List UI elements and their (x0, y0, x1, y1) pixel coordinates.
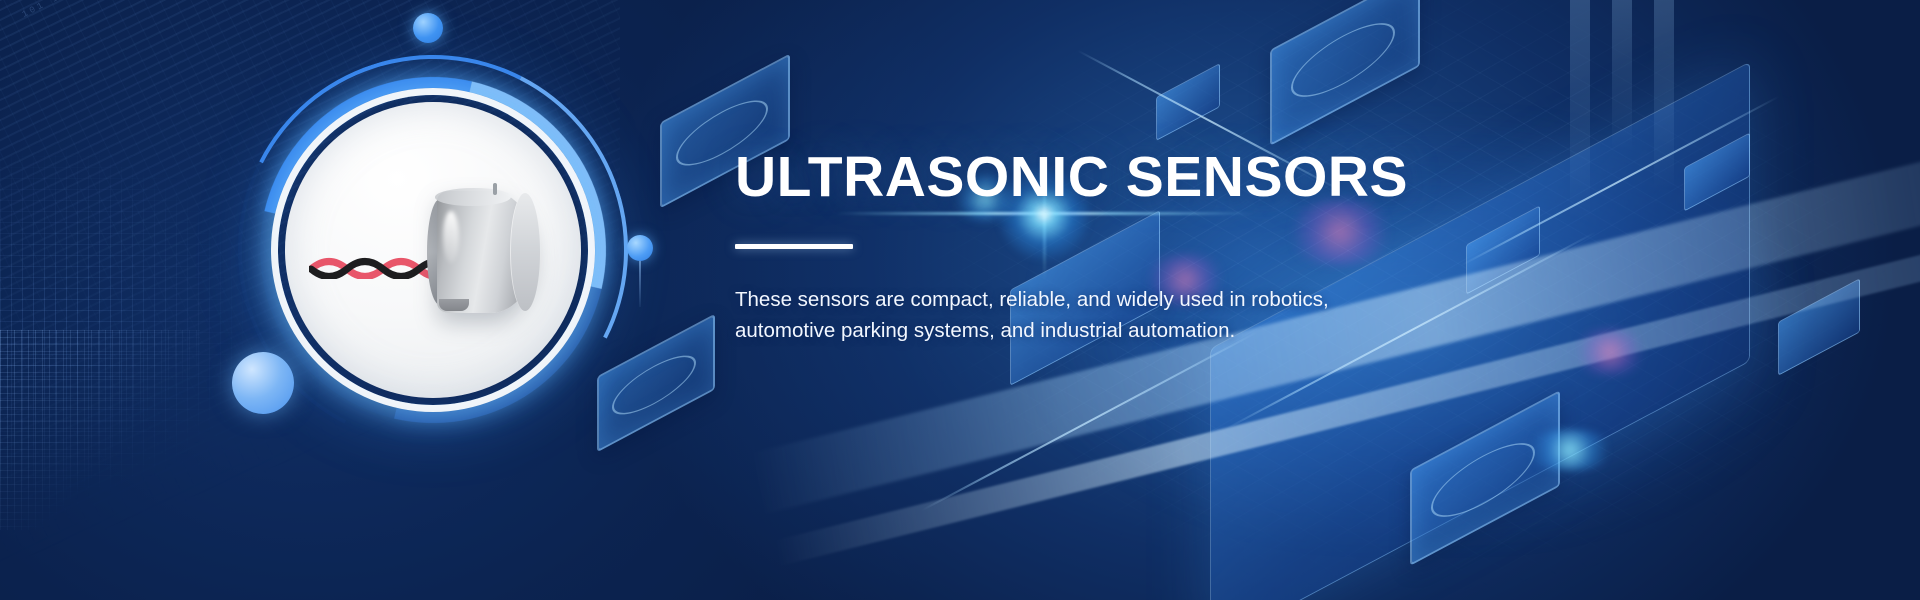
left-fine-grid-texture (0, 330, 200, 530)
vertical-light-bar (1654, 0, 1674, 190)
circuit-chip (1156, 63, 1220, 141)
cyan-light-flare (1520, 430, 1620, 470)
vertical-light-bar (1570, 0, 1590, 220)
product-medallion (238, 55, 628, 445)
page-title: ULTRASONIC SENSORS (735, 148, 1435, 208)
circuit-pad (1410, 390, 1560, 566)
sensor-pin (493, 183, 497, 195)
circuit-trace-oval (1431, 428, 1535, 532)
decorative-dot-stem (639, 261, 641, 307)
decorative-dot-bottom (232, 352, 294, 414)
hero-banner: 101 1001 0110 1 01001 (0, 0, 1920, 600)
circuit-trace-oval (1291, 8, 1395, 112)
decorative-dot-right (627, 235, 653, 261)
pink-light-flare (1570, 330, 1650, 374)
ultrasonic-sensor-icon (421, 191, 537, 315)
circuit-trace (1461, 96, 1780, 267)
sensor-notch (439, 299, 469, 311)
banner-subtitle: These sensors are compact, reliable, and… (735, 285, 1375, 347)
product-photo (285, 102, 581, 398)
circuit-trace (922, 331, 1258, 511)
sensor-rim (434, 188, 512, 206)
circuit-chip (1466, 205, 1540, 294)
circuit-pad (1270, 0, 1420, 146)
circuit-chip (1778, 278, 1860, 376)
sensor-front-face (510, 193, 540, 311)
circuit-chip (1684, 132, 1750, 211)
banner-text-block: ULTRASONIC SENSORS These sensors are com… (735, 148, 1435, 346)
decorative-dot-top (413, 13, 443, 43)
vertical-light-bar (1612, 0, 1632, 150)
title-divider (735, 244, 853, 249)
sensor-highlight (443, 211, 459, 263)
